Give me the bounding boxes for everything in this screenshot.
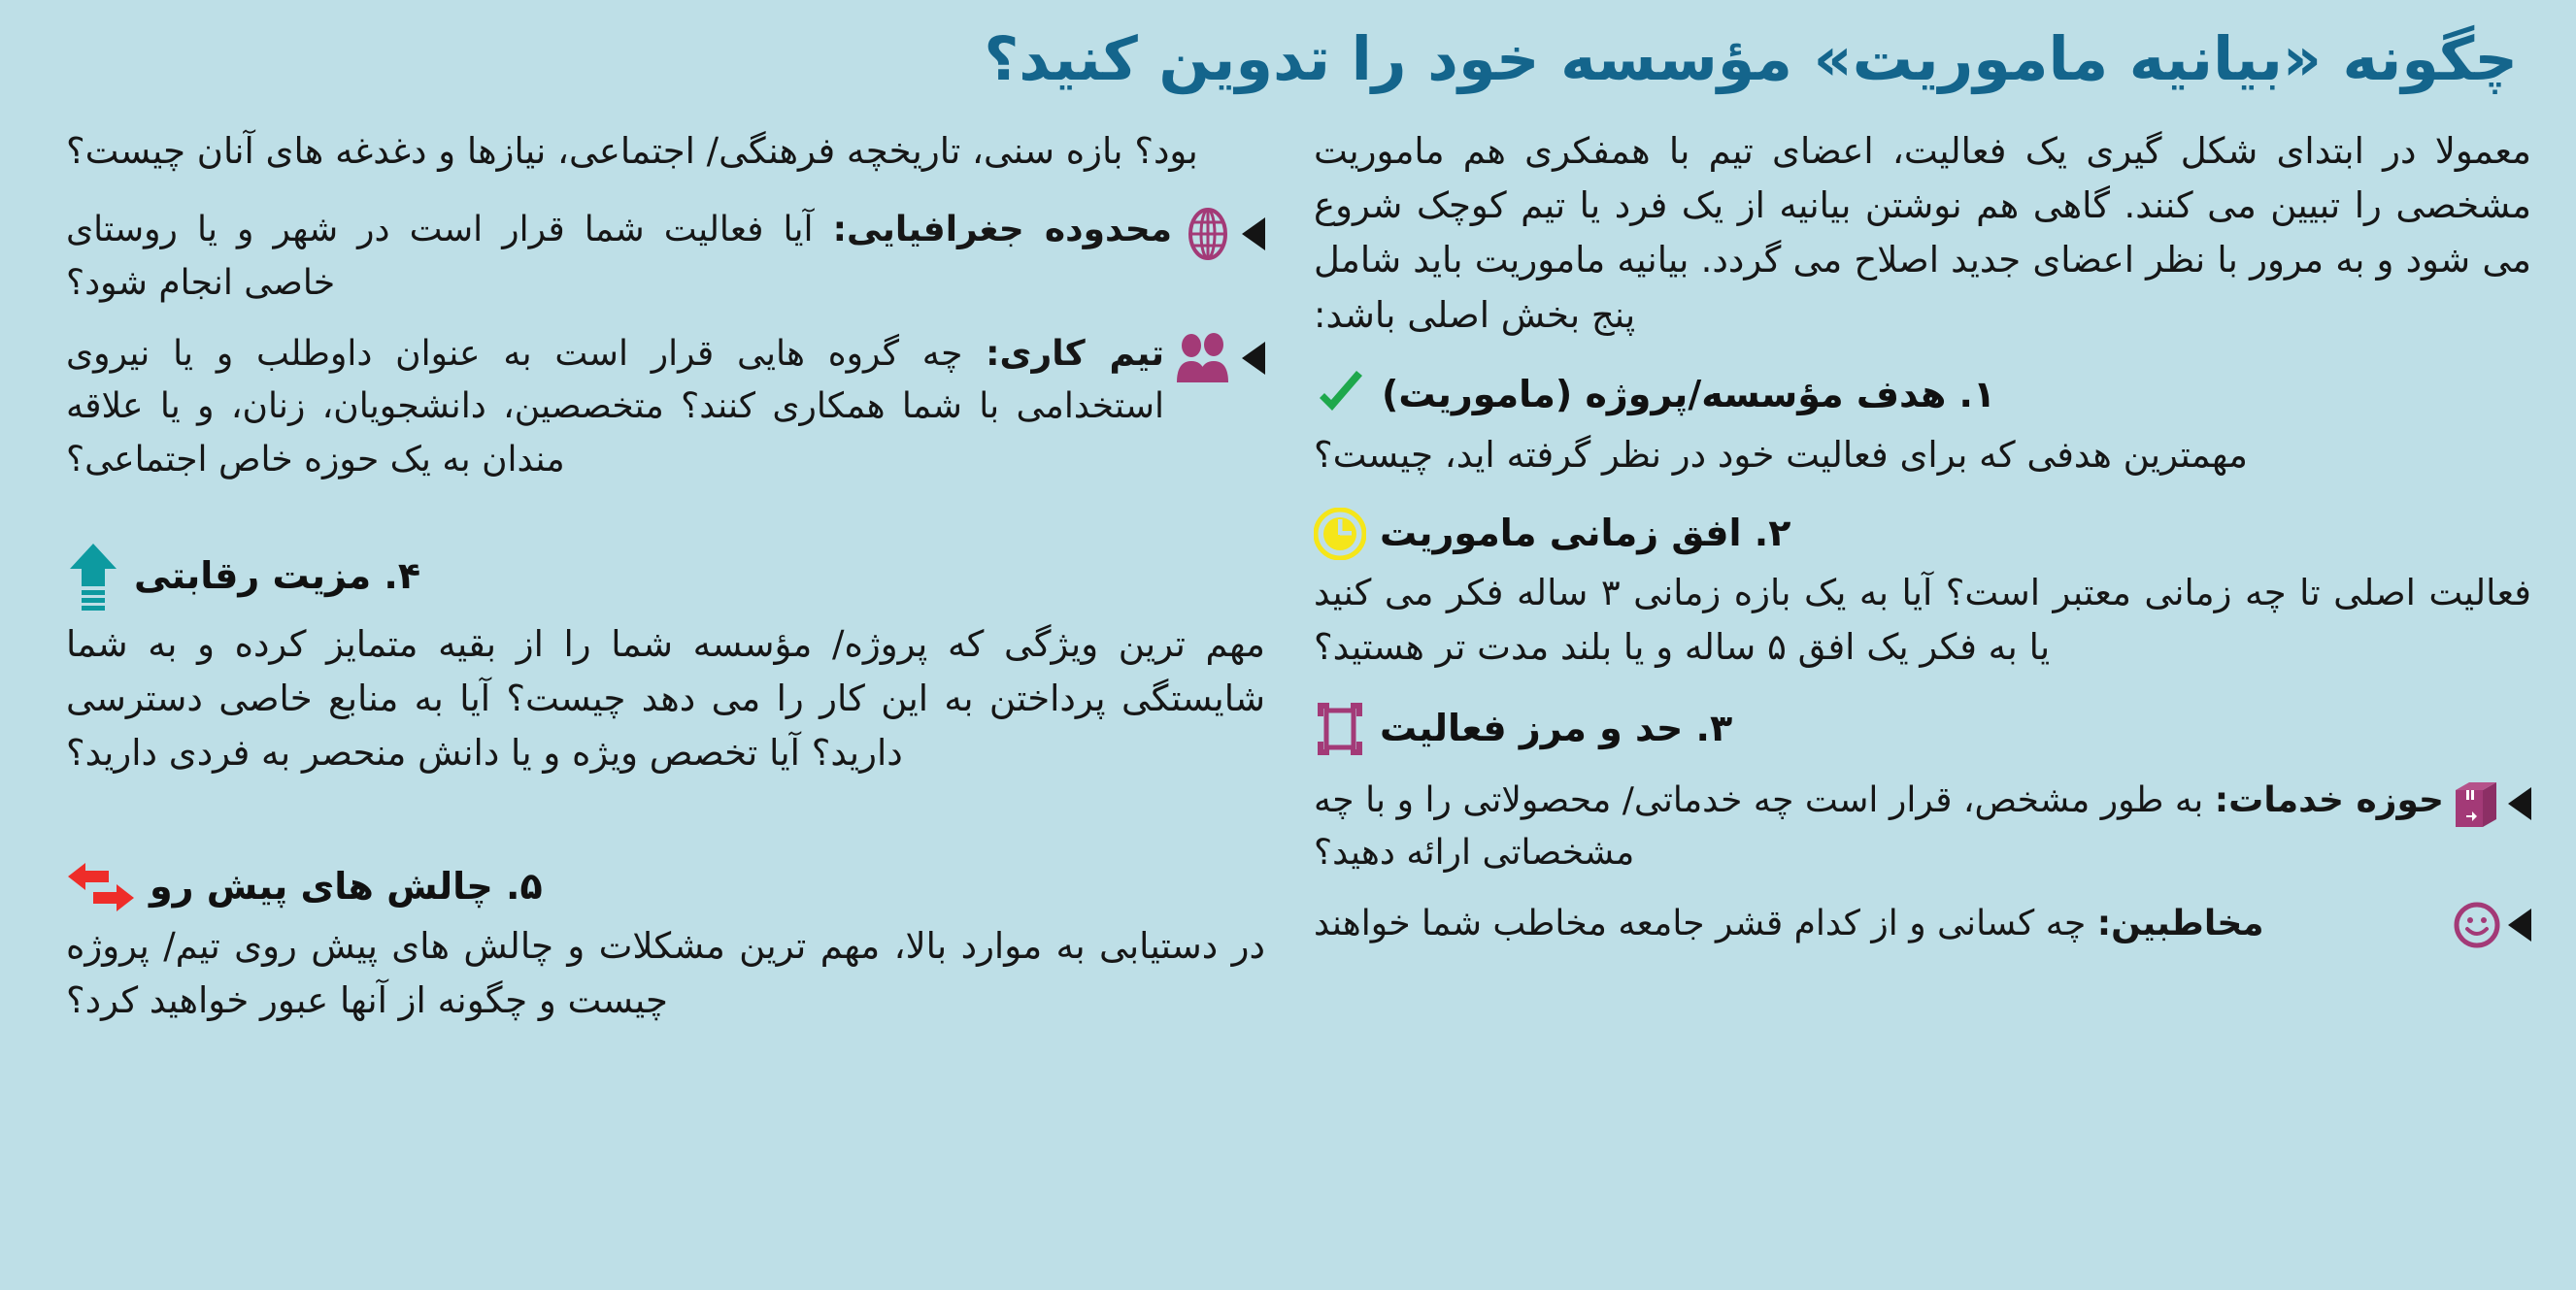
bullet-audience: مخاطبین: چه کسانی و از کدام قشر جامعه مخ… — [1314, 898, 2531, 951]
team-icon — [1174, 332, 1234, 384]
section-heading-5: ۵. چالش های پیش رو — [66, 861, 1265, 913]
section-heading-1: ۱. هدف مؤسسه/پروژه (ماموریت) — [1314, 368, 2531, 422]
bullet-team-icons — [1174, 328, 1265, 384]
bullet-geography-desc: آیا فعالیت شما قرار است در شهر و یا روست… — [66, 210, 833, 303]
bullet-geography-label: محدوده جغرافیایی: — [833, 210, 1172, 249]
section-2-title: ۲. افق زمانی ماموریت — [1380, 512, 1790, 556]
content-columns: معمولا در ابتدای شکل گیری یک فعالیت، اعض… — [0, 124, 2576, 1290]
globe-icon — [1182, 208, 1234, 260]
bullet-geography-icons — [1182, 204, 1265, 260]
arrows-lr-icon — [66, 861, 136, 913]
infographic-page: چگونه «بیانیه ماموریت» مؤسسه خود را تدوی… — [0, 0, 2576, 1290]
page-title: چگونه «بیانیه ماموریت» مؤسسه خود را تدوی… — [984, 27, 2518, 90]
triangle-bullet-icon — [2508, 787, 2531, 820]
section-3-title: ۳. حد و مرز فعالیت — [1380, 707, 1732, 751]
continued-line: بود؟ بازه سنی، تاریخچه فرهنگی/ اجتماعی، … — [66, 124, 1265, 179]
frame-icon — [1314, 701, 1366, 757]
arrow-up-icon — [66, 542, 120, 612]
bullet-team: تیم کاری: چه گروه هایی قرار است به عنوان… — [66, 328, 1265, 487]
triangle-bullet-icon — [2508, 909, 2531, 942]
bullet-services-desc: به طور مشخص، قرار است چه خدماتی/ محصولات… — [1314, 780, 2215, 874]
triangle-bullet-icon — [1242, 217, 1265, 250]
triangle-bullet-icon — [1242, 342, 1265, 375]
section-4-body: مهم ترین ویژگی که پروژه/ مؤسسه شما را از… — [66, 617, 1265, 781]
section-5-title: ۵. چالش های پیش رو — [150, 865, 543, 910]
bullet-audience-text: مخاطبین: چه کسانی و از کدام قشر جامعه مخ… — [1314, 898, 2444, 951]
bullet-team-text: تیم کاری: چه گروه هایی قرار است به عنوان… — [66, 328, 1164, 487]
clock-icon — [1314, 508, 1366, 560]
bullet-team-label: تیم کاری: — [986, 334, 1164, 374]
section-heading-3: ۳. حد و مرز فعالیت — [1314, 701, 2531, 757]
left-column: بود؟ بازه سنی، تاریخچه فرهنگی/ اجتماعی، … — [0, 124, 1292, 1290]
check-icon — [1314, 368, 1368, 422]
bullet-audience-icons — [2454, 898, 2531, 948]
spacer — [66, 503, 1265, 516]
bullet-audience-label: مخاطبین: — [2097, 904, 2264, 943]
bullet-services: حوزه خدمات: به طور مشخص، قرار است چه خدم… — [1314, 775, 2531, 880]
bullet-services-text: حوزه خدمات: به طور مشخص، قرار است چه خدم… — [1314, 775, 2444, 880]
right-column: معمولا در ابتدای شکل گیری یک فعالیت، اعض… — [1292, 124, 2576, 1290]
section-5-body: در دستیابی به موارد بالا، مهم ترین مشکلا… — [66, 919, 1265, 1028]
section-1-body: مهمترین هدفی که برای فعالیت خود در نظر گ… — [1314, 428, 2531, 482]
bullet-services-label: حوزه خدمات: — [2215, 780, 2444, 820]
bullet-services-icons — [2454, 775, 2531, 829]
section-2-body: فعالیت اصلی تا چه زمانی معتبر است؟ آیا ب… — [1314, 566, 2531, 675]
section-heading-4: ۴. مزیت رقابتی — [66, 542, 1265, 612]
section-4-title: ۴. مزیت رقابتی — [134, 554, 420, 599]
title-bar: چگونه «بیانیه ماموریت» مؤسسه خود را تدوی… — [0, 8, 2576, 110]
smiley-icon — [2454, 902, 2500, 948]
section-heading-2: ۲. افق زمانی ماموریت — [1314, 508, 2531, 560]
bullet-geography-text: محدوده جغرافیایی: آیا فعالیت شما قرار اس… — [66, 204, 1172, 310]
spacer — [66, 807, 1265, 836]
bullet-audience-desc: چه کسانی و از کدام قشر جامعه مخاطب شما خ… — [1314, 904, 2097, 943]
box-icon — [2454, 778, 2500, 829]
intro-paragraph: معمولا در ابتدای شکل گیری یک فعالیت، اعض… — [1314, 124, 2531, 343]
section-1-title: ۱. هدف مؤسسه/پروژه (ماموریت) — [1382, 373, 1995, 417]
bullet-geography: محدوده جغرافیایی: آیا فعالیت شما قرار اس… — [66, 204, 1265, 310]
